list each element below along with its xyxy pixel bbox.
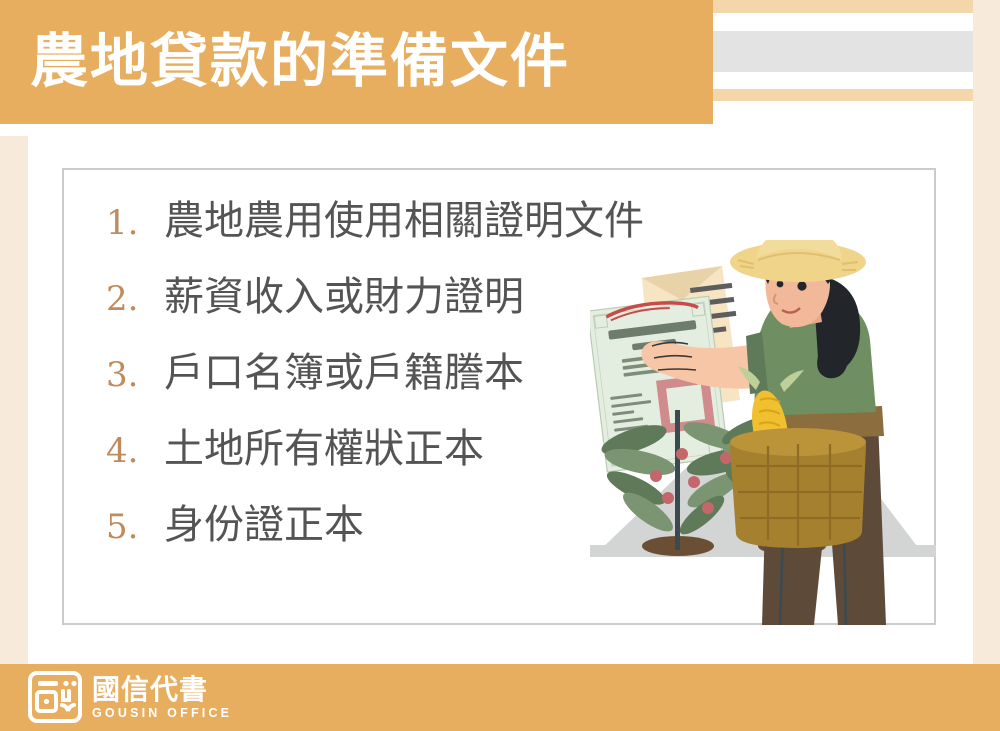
gousin-seal-icon: [28, 671, 82, 723]
list-item-label: 身份證正本: [164, 502, 364, 548]
slide-canvas: 農地貸款的準備文件 1. 農地農用使用相關證明文件 2. 薪資收入或財力證明 3…: [0, 0, 1000, 731]
list-item-number: 5.: [106, 507, 164, 547]
decor-stripe-top-gray: [713, 31, 973, 72]
decor-stripe-top-orange-upper: [713, 0, 973, 13]
page-title: 農地貸款的準備文件: [30, 26, 570, 96]
list-item-number: 2.: [106, 279, 164, 319]
brand-name-cn: 國信代書: [92, 674, 232, 705]
decor-stripe-left-beige: [0, 136, 28, 664]
list-item-label: 農地農用使用相關證明文件: [164, 198, 644, 244]
brand-name-en: GOUSIN OFFICE: [92, 705, 232, 721]
list-item-label: 戶口名簿或戶籍謄本: [164, 350, 524, 396]
list-item-number: 3.: [106, 355, 164, 395]
brand-logo[interactable]: 國信代書 GOUSIN OFFICE: [28, 671, 232, 723]
farmer-illustration: [590, 240, 936, 625]
list-item-label: 土地所有權狀正本: [164, 426, 484, 472]
list-item-label: 薪資收入或財力證明: [164, 274, 524, 320]
decor-stripe-right-beige: [973, 0, 1000, 664]
list-item-number: 1.: [106, 203, 164, 243]
decor-stripe-top-orange-lower: [713, 89, 973, 101]
list-item-number: 4.: [106, 431, 164, 471]
brand-text-block: 國信代書 GOUSIN OFFICE: [92, 674, 232, 721]
